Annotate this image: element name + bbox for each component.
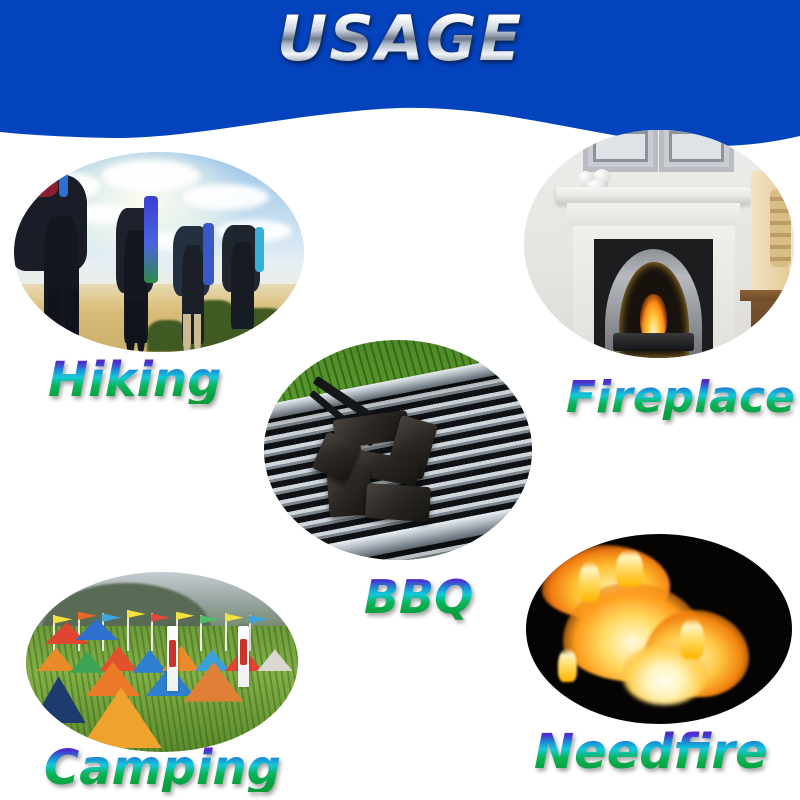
- caption-hiking: Hiking: [48, 356, 222, 404]
- page-title: USAGE: [0, 8, 800, 70]
- open-flame-photo: [526, 534, 792, 724]
- caption-fireplace: Fireplace: [566, 376, 795, 420]
- caption-camping: Camping: [44, 744, 281, 792]
- indoor-fireplace-photo: [524, 130, 794, 358]
- charcoal-briquettes-on-grill-photo: [264, 340, 532, 560]
- campsite-with-tents-photo: [26, 572, 298, 752]
- hikers-with-backpacks-photo: [14, 152, 304, 352]
- usage-poster: USAGE: [0, 0, 800, 800]
- caption-needfire: Needfire: [534, 728, 768, 776]
- caption-bbq: BBQ: [364, 574, 473, 620]
